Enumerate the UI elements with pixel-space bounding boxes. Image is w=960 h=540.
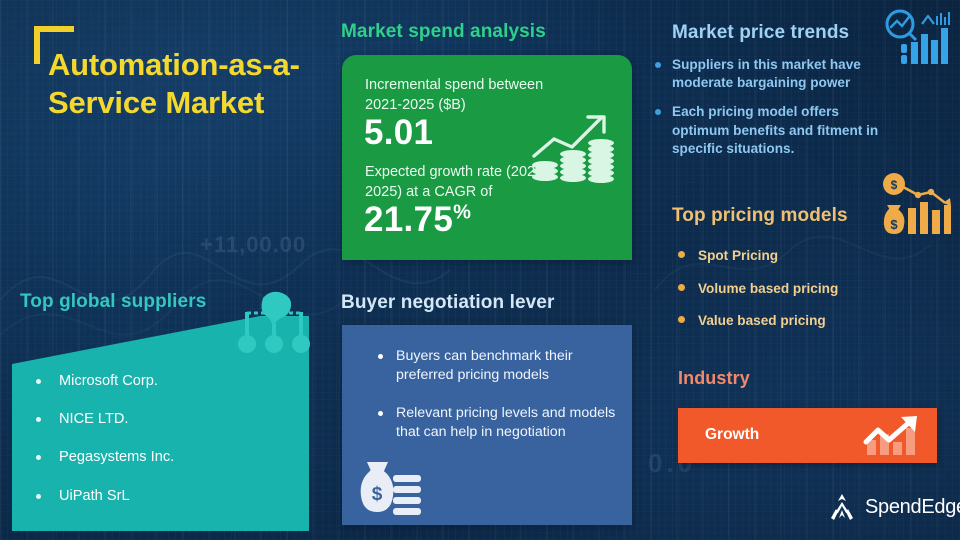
incremental-spend-value: 5.01 bbox=[364, 113, 433, 153]
list-item-label: NICE LTD. bbox=[59, 411, 128, 427]
bullet-dot-icon bbox=[36, 379, 41, 384]
money-bag-icon: $ bbox=[352, 458, 426, 524]
bullet-dot-icon bbox=[378, 411, 383, 416]
spendedge-logo: SpendEdge™ bbox=[826, 492, 960, 522]
bullet-dot-icon bbox=[655, 62, 661, 68]
buyer-negotiation-lever-heading: Buyer negotiation lever bbox=[341, 292, 554, 314]
logo-text: SpendEdge™ bbox=[865, 496, 960, 519]
market-price-trends-heading: Market price trends bbox=[672, 22, 849, 44]
globe-network-icon bbox=[238, 288, 310, 358]
buyer-negotiation-lever-bullets: Buyers can benchmark their preferred pri… bbox=[372, 347, 624, 460]
bullet-dot-icon bbox=[678, 251, 685, 258]
list-item: Spot Pricing bbox=[678, 247, 898, 265]
page-title-line1: Automation-as-a- bbox=[48, 47, 300, 82]
coins-growth-icon bbox=[528, 107, 616, 183]
list-item-label: Pegasystems Inc. bbox=[59, 449, 174, 465]
list-item: Volume based pricing bbox=[678, 280, 898, 298]
svg-text:$: $ bbox=[372, 484, 383, 505]
list-item: Pegasystems Inc. bbox=[32, 448, 282, 466]
list-item: Relevant pricing levels and models that … bbox=[372, 404, 624, 443]
bullet-dot-icon bbox=[36, 417, 41, 422]
growth-arrow-icon bbox=[861, 414, 927, 460]
list-item-label: Suppliers in this market have moderate b… bbox=[672, 57, 861, 90]
top-pricing-models-heading: Top pricing models bbox=[672, 205, 848, 227]
status-badge: Growth bbox=[705, 426, 759, 444]
bullet-dot-icon bbox=[678, 316, 685, 323]
list-item-label: Value based pricing bbox=[698, 313, 826, 328]
cagr-value-row: 21.75% bbox=[364, 200, 471, 240]
background-watermark-number: +11,00.00 bbox=[200, 232, 306, 258]
list-item-label: Buyers can benchmark their preferred pri… bbox=[396, 348, 573, 383]
svg-text:$: $ bbox=[890, 217, 898, 232]
list-item: UiPath SrL bbox=[32, 487, 282, 505]
list-item: Each pricing model offers optimum benefi… bbox=[655, 103, 895, 158]
list-item: NICE LTD. bbox=[32, 410, 282, 428]
cagr-value: 21.75 bbox=[364, 200, 453, 239]
top-global-suppliers-list: Microsoft Corp. NICE LTD. Pegasystems In… bbox=[32, 372, 282, 525]
market-price-trends-bullets: Suppliers in this market have moderate b… bbox=[655, 56, 895, 169]
bullet-dot-icon bbox=[678, 284, 685, 291]
page-title: Automation-as-a- Service Market bbox=[48, 46, 348, 122]
moneybags-declining-chart-icon: $ $ bbox=[878, 172, 954, 242]
list-item: Microsoft Corp. bbox=[32, 372, 282, 390]
market-spend-heading: Market spend analysis bbox=[341, 21, 546, 43]
infographic-canvas: +11,00.00 0.0 Automation-as-a- Service M… bbox=[0, 0, 960, 540]
list-item-label: Each pricing model offers optimum benefi… bbox=[672, 104, 878, 155]
top-pricing-models-bullets: Spot Pricing Volume based pricing Value … bbox=[678, 247, 898, 345]
bullet-dot-icon bbox=[36, 494, 41, 499]
logo-name: SpendEdge bbox=[865, 496, 960, 518]
bullet-dot-icon bbox=[378, 354, 383, 359]
bullet-dot-icon bbox=[36, 455, 41, 460]
bullet-dot-icon bbox=[655, 109, 661, 115]
list-item-label: Spot Pricing bbox=[698, 248, 778, 263]
industry-heading: Industry bbox=[678, 368, 750, 389]
page-title-line2: Service Market bbox=[48, 85, 264, 120]
svg-text:$: $ bbox=[891, 178, 898, 192]
list-item-label: Volume based pricing bbox=[698, 281, 838, 296]
list-item-label: Relevant pricing levels and models that … bbox=[396, 405, 615, 440]
market-spend-panel: Incremental spend between 2021-2025 ($B)… bbox=[342, 55, 632, 260]
list-item: Value based pricing bbox=[678, 312, 898, 330]
list-item: Buyers can benchmark their preferred pri… bbox=[372, 347, 624, 386]
spendedge-chevron-icon bbox=[826, 492, 858, 522]
top-global-suppliers-heading: Top global suppliers bbox=[20, 291, 206, 313]
list-item: Suppliers in this market have moderate b… bbox=[655, 56, 895, 92]
cagr-unit: % bbox=[453, 201, 471, 223]
list-item-label: Microsoft Corp. bbox=[59, 373, 158, 389]
list-item-label: UiPath SrL bbox=[59, 488, 130, 504]
industry-growth-badge: Growth bbox=[678, 408, 937, 463]
